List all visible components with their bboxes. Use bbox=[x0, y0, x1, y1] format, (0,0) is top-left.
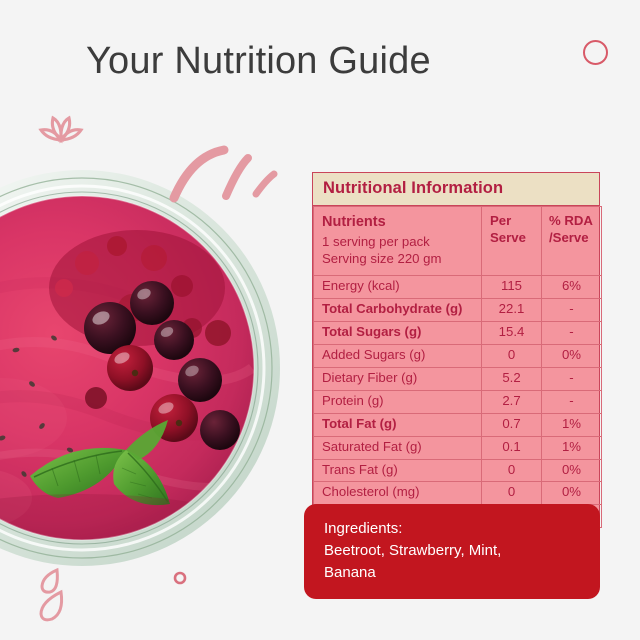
small-circle-icon bbox=[172, 570, 188, 586]
rda-header-cell: % RDA /Serve bbox=[542, 207, 602, 276]
rda-value-cell: 1% bbox=[542, 413, 602, 436]
nutrition-table-card: Nutritional Information Nutrients 1 serv… bbox=[312, 172, 600, 529]
page-title: Your Nutrition Guide bbox=[86, 40, 431, 83]
rda-value-cell: - bbox=[542, 367, 602, 390]
nutrient-name-cell: Trans Fat (g) bbox=[314, 459, 482, 482]
rda-value-cell: - bbox=[542, 299, 602, 322]
smoothie-bowl-photo bbox=[0, 168, 282, 568]
rda-value-cell: 0% bbox=[542, 459, 602, 482]
ingredients-line-1: Beetroot, Strawberry, Mint, bbox=[324, 540, 580, 562]
table-row: Protein (g)2.7- bbox=[314, 390, 602, 413]
rda-value-cell: - bbox=[542, 322, 602, 345]
nutrient-name-cell: Protein (g) bbox=[314, 390, 482, 413]
rda-value-cell: - bbox=[542, 390, 602, 413]
table-row: Total Sugars (g)15.4- bbox=[314, 322, 602, 345]
rda-value-cell: 6% bbox=[542, 276, 602, 299]
per-serve-value-cell: 0.7 bbox=[482, 413, 542, 436]
serving-size: Serving size 220 gm bbox=[322, 250, 473, 267]
per-serve-value-cell: 115 bbox=[482, 276, 542, 299]
nutrient-name-cell: Saturated Fat (g) bbox=[314, 436, 482, 459]
ingredients-line-2: Banana bbox=[324, 562, 580, 584]
serving-per-pack: 1 serving per pack bbox=[322, 233, 473, 250]
nutrient-name-cell: Total Carbohydrate (g) bbox=[314, 299, 482, 322]
poster-canvas: Your Nutrition Guide bbox=[0, 0, 640, 640]
rda-line1: % RDA bbox=[549, 213, 593, 228]
arc-strokes-icon bbox=[168, 144, 280, 206]
rda-line2: /Serve bbox=[549, 230, 589, 245]
per-serve-header-cell: Per Serve bbox=[482, 207, 542, 276]
nutrition-table-title: Nutritional Information bbox=[313, 173, 599, 206]
nutrient-name-cell: Total Sugars (g) bbox=[314, 322, 482, 345]
table-row: Total Fat (g)0.71% bbox=[314, 413, 602, 436]
nutrient-name-cell: Energy (kcal) bbox=[314, 276, 482, 299]
per-serve-line2: Serve bbox=[490, 230, 526, 245]
table-row: Total Carbohydrate (g)22.1- bbox=[314, 299, 602, 322]
drop-swirl-icon bbox=[33, 562, 77, 624]
leaf-flourish-icon bbox=[33, 108, 89, 146]
nutrients-label: Nutrients bbox=[322, 213, 473, 232]
per-serve-value-cell: 0.1 bbox=[482, 436, 542, 459]
nutrients-header-cell: Nutrients 1 serving per pack Serving siz… bbox=[314, 207, 482, 276]
table-row: Cholesterol (mg)00% bbox=[314, 482, 602, 505]
nutrient-name-cell: Cholesterol (mg) bbox=[314, 482, 482, 505]
nutrition-table: Nutrients 1 serving per pack Serving siz… bbox=[313, 206, 602, 528]
rda-value-cell: 0% bbox=[542, 345, 602, 368]
nutrient-name-cell: Dietary Fiber (g) bbox=[314, 367, 482, 390]
ingredients-box: Ingredients: Beetroot, Strawberry, Mint,… bbox=[304, 504, 600, 599]
rda-value-cell: 0% bbox=[542, 482, 602, 505]
table-header-row: Nutrients 1 serving per pack Serving siz… bbox=[314, 207, 602, 276]
circle-outline-icon bbox=[583, 40, 608, 65]
table-row: Saturated Fat (g)0.11% bbox=[314, 436, 602, 459]
per-serve-value-cell: 2.7 bbox=[482, 390, 542, 413]
nutrient-name-cell: Total Fat (g) bbox=[314, 413, 482, 436]
table-row: Trans Fat (g)00% bbox=[314, 459, 602, 482]
ingredients-label: Ingredients: bbox=[324, 518, 580, 540]
per-serve-value-cell: 0 bbox=[482, 345, 542, 368]
per-serve-value-cell: 0 bbox=[482, 459, 542, 482]
per-serve-value-cell: 5.2 bbox=[482, 367, 542, 390]
per-serve-value-cell: 15.4 bbox=[482, 322, 542, 345]
rda-value-cell: 1% bbox=[542, 436, 602, 459]
nutrient-name-cell: Added Sugars (g) bbox=[314, 345, 482, 368]
table-row: Dietary Fiber (g)5.2- bbox=[314, 367, 602, 390]
per-serve-value-cell: 0 bbox=[482, 482, 542, 505]
table-row: Added Sugars (g)00% bbox=[314, 345, 602, 368]
table-row: Energy (kcal)1156% bbox=[314, 276, 602, 299]
per-serve-value-cell: 22.1 bbox=[482, 299, 542, 322]
per-serve-line1: Per bbox=[490, 213, 511, 228]
